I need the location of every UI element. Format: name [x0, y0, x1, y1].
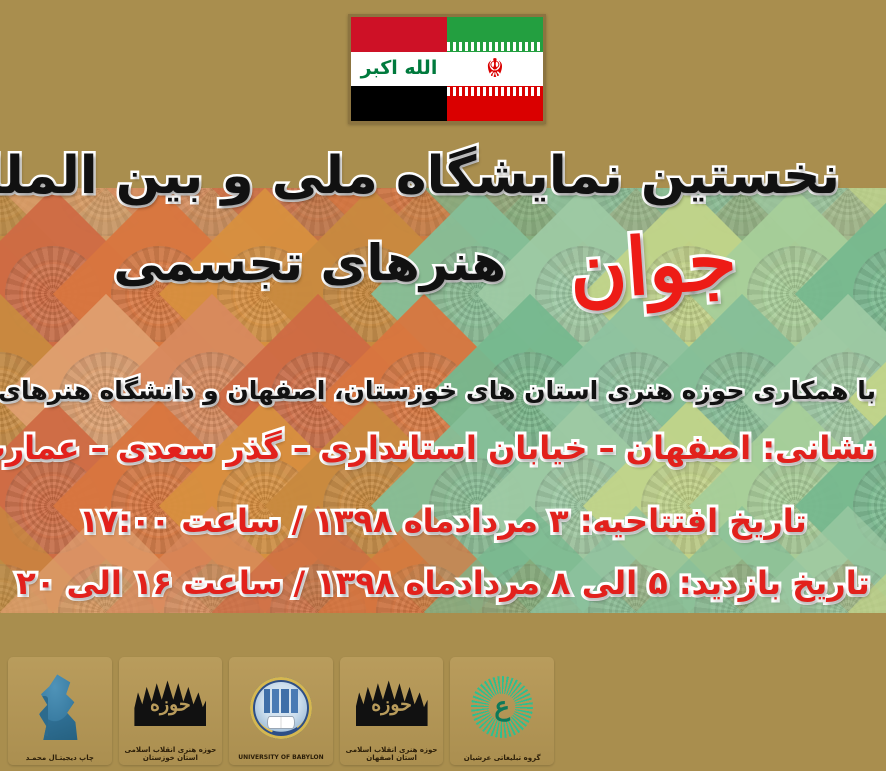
logo-howzeh-honari-khuzestan: حوزه حوزه هنری انقلاب اسلامی استان خوزست… — [119, 657, 223, 765]
sponsor-logo-strip: چاپ دیجیتـال محمـد حوزه حوزه هنری انقلاب… — [8, 657, 554, 765]
blue-brush-figure-icon — [10, 661, 110, 754]
iraq-flag-white-band: الله اكبر — [351, 52, 447, 87]
exhibition-poster: الله اكبر ☬ نخستین نمایشگاه ملی و بین ال… — [0, 0, 886, 771]
iraq-flag-black-band — [351, 86, 447, 121]
logo-mohammad-digital-print: چاپ دیجیتـال محمـد — [8, 657, 112, 765]
logo-caption-en: UNIVERSITY OF BABYLON — [231, 755, 331, 762]
sunburst-calligraphy-icon: حوزه — [121, 661, 221, 746]
logo-caption: چاپ دیجیتـال محمـد — [10, 754, 110, 762]
logo-caption: گروه تبلیغاتی عرشیان — [452, 754, 552, 762]
iran-emblem-icon: ☬ — [486, 56, 504, 82]
iraq-flag-red-band — [351, 17, 447, 52]
logo-howzeh-honari-isfahan: حوزه حوزه هنری انقلاب اسلامی استان اصفها… — [340, 657, 444, 765]
address-line: نشانی: اصفهان – خیابان استانداری – گذر س… — [10, 432, 876, 464]
iran-flag-red-band — [447, 86, 543, 121]
iran-flag-green-band — [447, 17, 543, 52]
title-line-2: هنرهای تجسمی — [113, 238, 506, 288]
logo-university-of-babylon: UNIVERSITY OF BABYLON — [229, 657, 333, 765]
logo-caption: حوزه هنری انقلاب اسلامی استان خوزستان — [121, 746, 221, 762]
opening-date-line: تاریخ افتتاحیه: ۳ مردادماه ۱۳۹۸ / ساعت ۱… — [10, 505, 876, 537]
flags-banner: الله اكبر ☬ — [348, 14, 546, 124]
takbir-text: الله اكبر — [361, 59, 438, 78]
collaboration-line: با همکاری حوزه هنری استان های خوزستان، ا… — [10, 378, 876, 403]
green-radial-burst-icon: ع — [452, 661, 552, 754]
iran-flag: ☬ — [447, 17, 543, 121]
iran-flag-white-band: ☬ — [447, 52, 543, 87]
iraq-flag: الله اكبر — [351, 17, 447, 121]
title-highlight-javan: جوان — [566, 222, 739, 311]
university-crest-icon — [231, 661, 331, 755]
howzeh-calligraphy-glyph: حوزه — [371, 695, 412, 714]
visiting-date-line: تاریخ بازدید: ۵ الی ۸ مردادماه ۱۳۹۸ / سا… — [10, 567, 876, 599]
sunburst-calligraphy-icon: حوزه — [342, 661, 442, 746]
howzeh-calligraphy-glyph: حوزه — [150, 695, 191, 714]
logo-caption: حوزه هنری انقلاب اسلامی استان اصفهان — [342, 746, 442, 762]
arshian-calligraphy-glyph: ع — [494, 694, 510, 720]
title-line-1: نخستین نمایشگاه ملی و بین المللی — [46, 150, 840, 202]
logo-arshian-advertising-group: ع گروه تبلیغاتی عرشیان — [450, 657, 554, 765]
